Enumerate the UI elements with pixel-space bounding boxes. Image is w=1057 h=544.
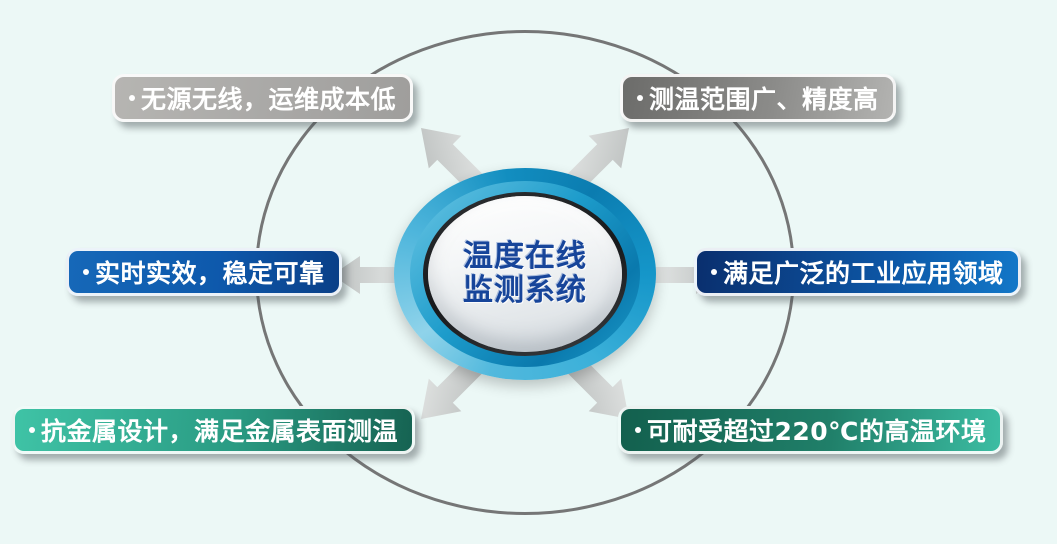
node-middle-left[interactable]: 实时实效，稳定可靠: [66, 248, 342, 296]
node-middle-right[interactable]: 满足广泛的工业应用领域: [694, 248, 1021, 296]
bullet-dot-icon: [637, 95, 643, 101]
center-label: 温度在线 监测系统: [463, 240, 587, 309]
bullet-dot-icon: [635, 427, 641, 433]
bullet-dot-icon: [29, 427, 35, 433]
node-label: 测温范围广、精度高: [649, 80, 879, 116]
hub-face: 温度在线 监测系统: [428, 196, 622, 352]
node-label: 满足广泛的工业应用领域: [723, 254, 1004, 290]
node-label: 抗金属设计，满足金属表面测温: [41, 412, 398, 448]
node-top-right[interactable]: 测温范围广、精度高: [620, 74, 896, 122]
node-bottom-right[interactable]: 可耐受超过220℃的高温环境: [618, 406, 1003, 454]
node-top-left[interactable]: 无源无线，运维成本低: [112, 74, 413, 122]
bullet-dot-icon: [83, 269, 89, 275]
bullet-dot-icon: [711, 269, 717, 275]
node-label: 无源无线，运维成本低: [141, 80, 396, 116]
node-bottom-left[interactable]: 抗金属设计，满足金属表面测温: [12, 406, 415, 454]
diagram-canvas: 温度在线 监测系统 无源无线，运维成本低 测温范围广、精度高 实时实效，稳定可靠…: [0, 0, 1057, 544]
node-label: 可耐受超过220℃的高温环境: [647, 412, 986, 448]
bullet-dot-icon: [129, 95, 135, 101]
center-hub: 温度在线 监测系统: [394, 168, 656, 380]
node-label: 实时实效，稳定可靠: [95, 254, 325, 290]
